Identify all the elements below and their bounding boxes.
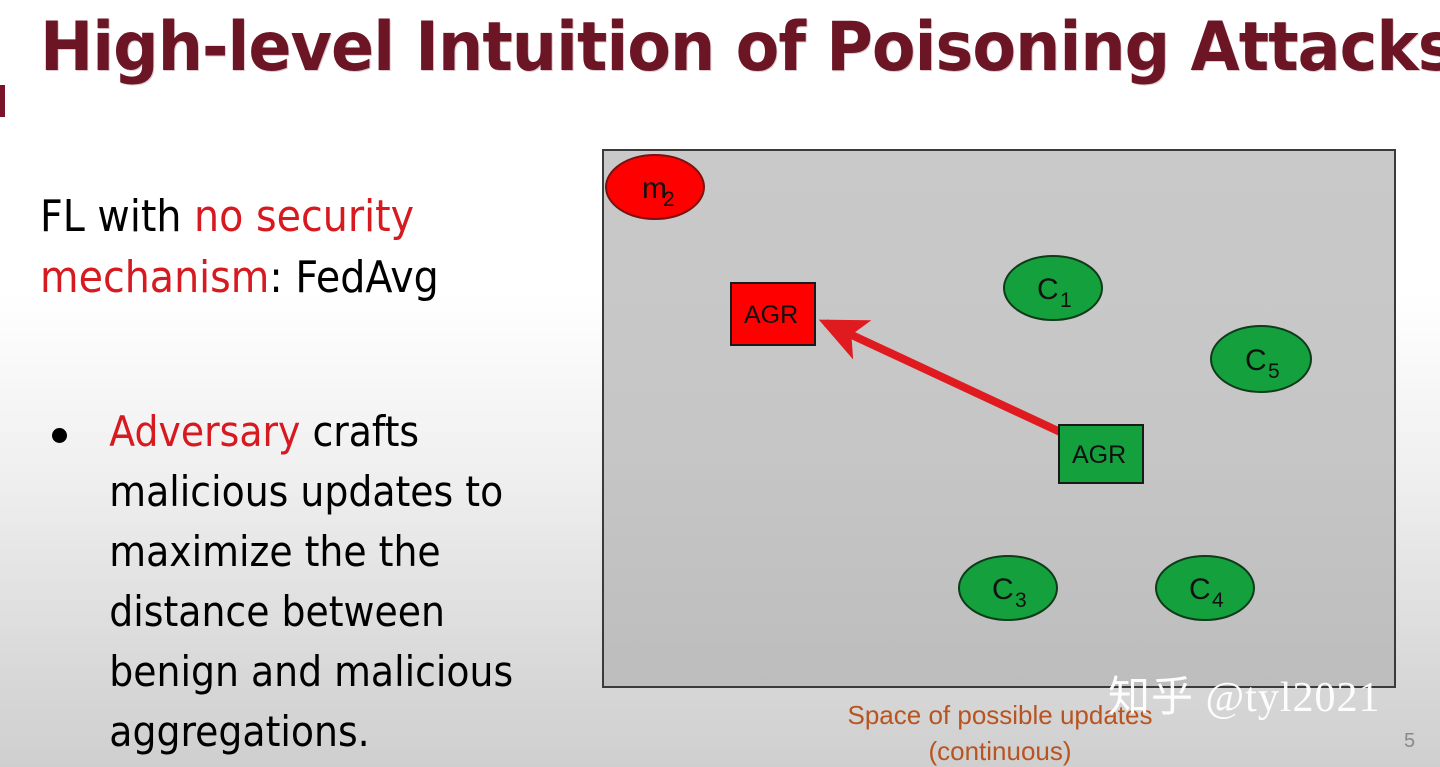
left-accent-bar: [0, 85, 5, 117]
node-m2-sub: 2: [663, 188, 675, 211]
diagram-caption-line2: (continuous): [760, 733, 1240, 767]
node-c1: C 1: [1004, 256, 1102, 320]
node-m2: m 2: [606, 155, 704, 219]
lead-text-part1: FL with: [40, 191, 194, 242]
update-space-diagram: m 2 C 1 C 5 C 3 C 4: [602, 149, 1396, 688]
slide-canvas: High-level Intuition of Poisoning Attack…: [0, 0, 1440, 767]
bullet-highlight: Adversary: [109, 407, 300, 456]
node-c3-label: C: [992, 573, 1014, 606]
bullet-marker-icon: [52, 428, 67, 443]
box-agr-malicious-label: AGR: [744, 301, 798, 329]
bullet-item: Adversary crafts malicious updates to ma…: [52, 402, 632, 762]
node-c4-label: C: [1189, 573, 1211, 606]
box-agr-benign-label: AGR: [1072, 441, 1126, 469]
slide-number: 5: [1404, 730, 1415, 753]
box-agr-benign: AGR: [1059, 425, 1143, 483]
watermark: 知乎 @tyl2021: [1108, 674, 1381, 722]
node-c4: C 4: [1156, 556, 1254, 620]
diagram-svg: m 2 C 1 C 5 C 3 C 4: [604, 151, 1394, 686]
bullet-text: Adversary crafts malicious updates to ma…: [67, 402, 576, 762]
node-c3: C 3: [959, 556, 1057, 620]
lead-paragraph: FL with no security mechanism: FedAvg: [40, 186, 526, 308]
page-title: High-level Intuition of Poisoning Attack…: [40, 4, 1349, 92]
node-c3-sub: 3: [1015, 589, 1027, 612]
node-c5-sub: 5: [1268, 360, 1280, 383]
bullet-body: crafts malicious updates to maximize the…: [109, 407, 513, 756]
node-c4-sub: 4: [1212, 589, 1224, 612]
node-c1-label: C: [1037, 273, 1059, 306]
node-c5-label: C: [1245, 344, 1267, 377]
node-c5: C 5: [1211, 326, 1311, 392]
lead-text-part2: : FedAvg: [269, 252, 438, 303]
node-c1-sub: 1: [1060, 289, 1072, 312]
box-agr-malicious: AGR: [731, 283, 815, 345]
